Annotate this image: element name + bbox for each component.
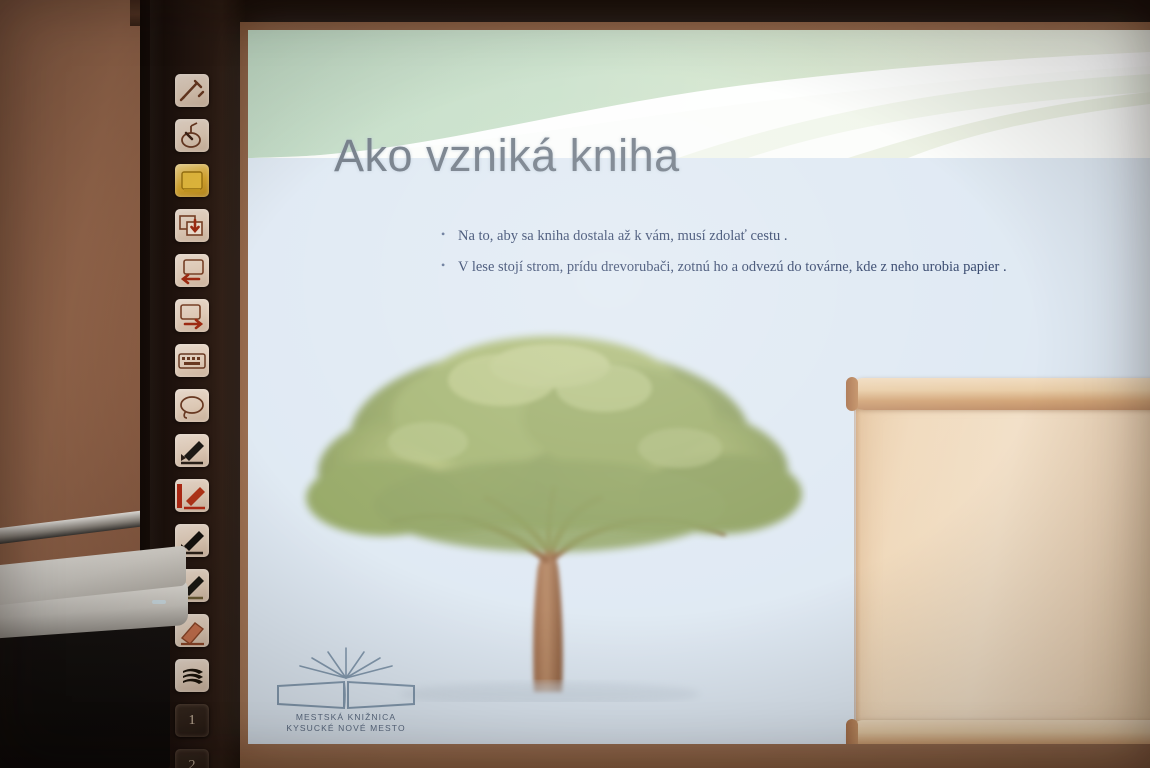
- logo-caption: MESTSKÁ KNIŽNICA KYSUCKÉ NOVÉ MESTO: [266, 712, 426, 734]
- pen-black-icon[interactable]: [175, 434, 209, 467]
- room-photo-scene: Ako vzniká kniha Na to, aby sa kniha dos…: [0, 0, 1150, 768]
- logo-line-1: MESTSKÁ KNIŽNICA: [266, 712, 426, 723]
- paste-down-icon[interactable]: [175, 209, 209, 242]
- keyboard-icon[interactable]: [175, 344, 209, 377]
- slide-title: Ako vzniká kniha: [334, 130, 1054, 182]
- lasso-select-icon[interactable]: [175, 389, 209, 422]
- page-one-label: 1: [175, 704, 209, 737]
- page-two-label: 2: [175, 749, 209, 768]
- dark-cabinet: [0, 622, 170, 768]
- scroll-bottom-roll: [848, 720, 1150, 744]
- scroll-top-roll: [848, 378, 1150, 410]
- scroll-top-knob: [846, 377, 858, 411]
- projected-slide: Ako vzniká kniha Na to, aby sa kniha dos…: [248, 30, 1150, 744]
- logo-line-2: KYSUCKÉ NOVÉ MESTO: [266, 723, 426, 734]
- back-arrow-icon[interactable]: [175, 254, 209, 287]
- highlighter-yellow-icon[interactable]: [175, 164, 209, 197]
- list-item: V lese stojí strom, prídu drevorubači, z…: [454, 256, 1056, 278]
- page-two-button[interactable]: 2: [175, 749, 209, 768]
- forward-arrow-icon[interactable]: [175, 299, 209, 332]
- scroll-left-shadow: [854, 396, 861, 728]
- mouse-pointer-icon[interactable]: [175, 119, 209, 152]
- scroll-bottom-knob: [846, 719, 858, 744]
- layers-icon[interactable]: [175, 659, 209, 692]
- printer-scanner: [0, 556, 192, 642]
- slide-bullet-list: Na to, aby sa kniha dostala až k vám, mu…: [436, 225, 1056, 287]
- calibrate-pen-icon[interactable]: [175, 74, 209, 107]
- whiteboard-side-toolbar[interactable]: 1 2: [172, 74, 218, 768]
- scroll-paper: [856, 392, 1150, 732]
- printer-status-leds: [152, 600, 166, 604]
- page-one-button[interactable]: 1: [175, 704, 209, 737]
- parchment-scroll-illustration: [848, 366, 1150, 744]
- pen-red-icon[interactable]: [175, 479, 209, 512]
- list-item: Na to, aby sa kniha dostala až k vám, mu…: [454, 225, 1056, 247]
